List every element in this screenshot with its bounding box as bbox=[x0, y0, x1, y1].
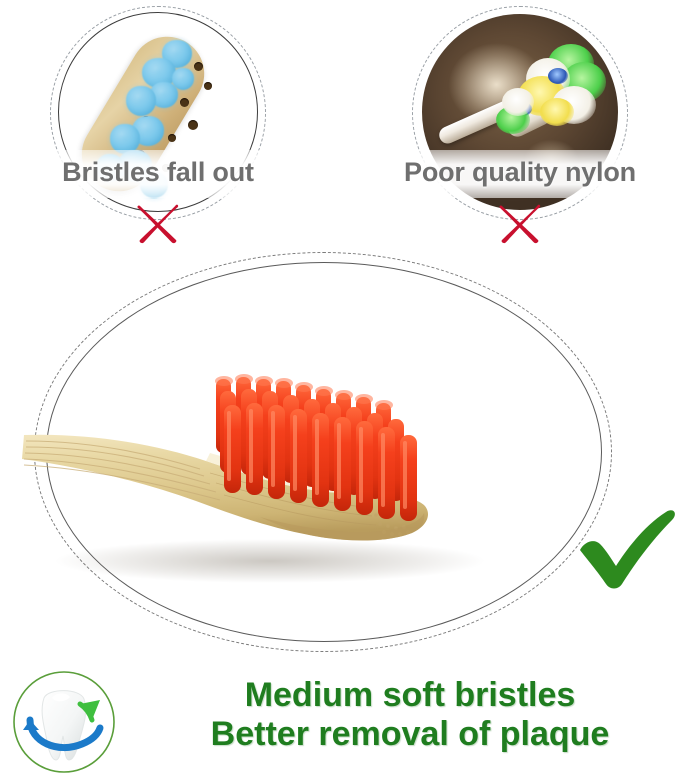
cross-icon bbox=[132, 196, 184, 248]
comparison-caption-bristles-fall-out: Bristles fall out bbox=[8, 157, 308, 188]
comparison-card-poor-quality-nylon: Poor quality nylon bbox=[370, 0, 670, 250]
check-icon bbox=[574, 508, 678, 590]
slogan-line-2: Better removal of plaque bbox=[150, 715, 670, 754]
infographic-canvas: Bristles fall out bbox=[0, 0, 679, 780]
cross-icon bbox=[494, 196, 546, 248]
comparison-caption-poor-quality-nylon: Poor quality nylon bbox=[370, 157, 670, 188]
tooth-icon bbox=[8, 668, 120, 776]
product-bamboo-toothbrush bbox=[20, 355, 540, 605]
slogan-block: Medium soft bristles Better removal of p… bbox=[150, 676, 670, 755]
slogan-line-1: Medium soft bristles bbox=[150, 676, 670, 715]
comparison-card-bristles-fall-out: Bristles fall out bbox=[8, 0, 308, 250]
